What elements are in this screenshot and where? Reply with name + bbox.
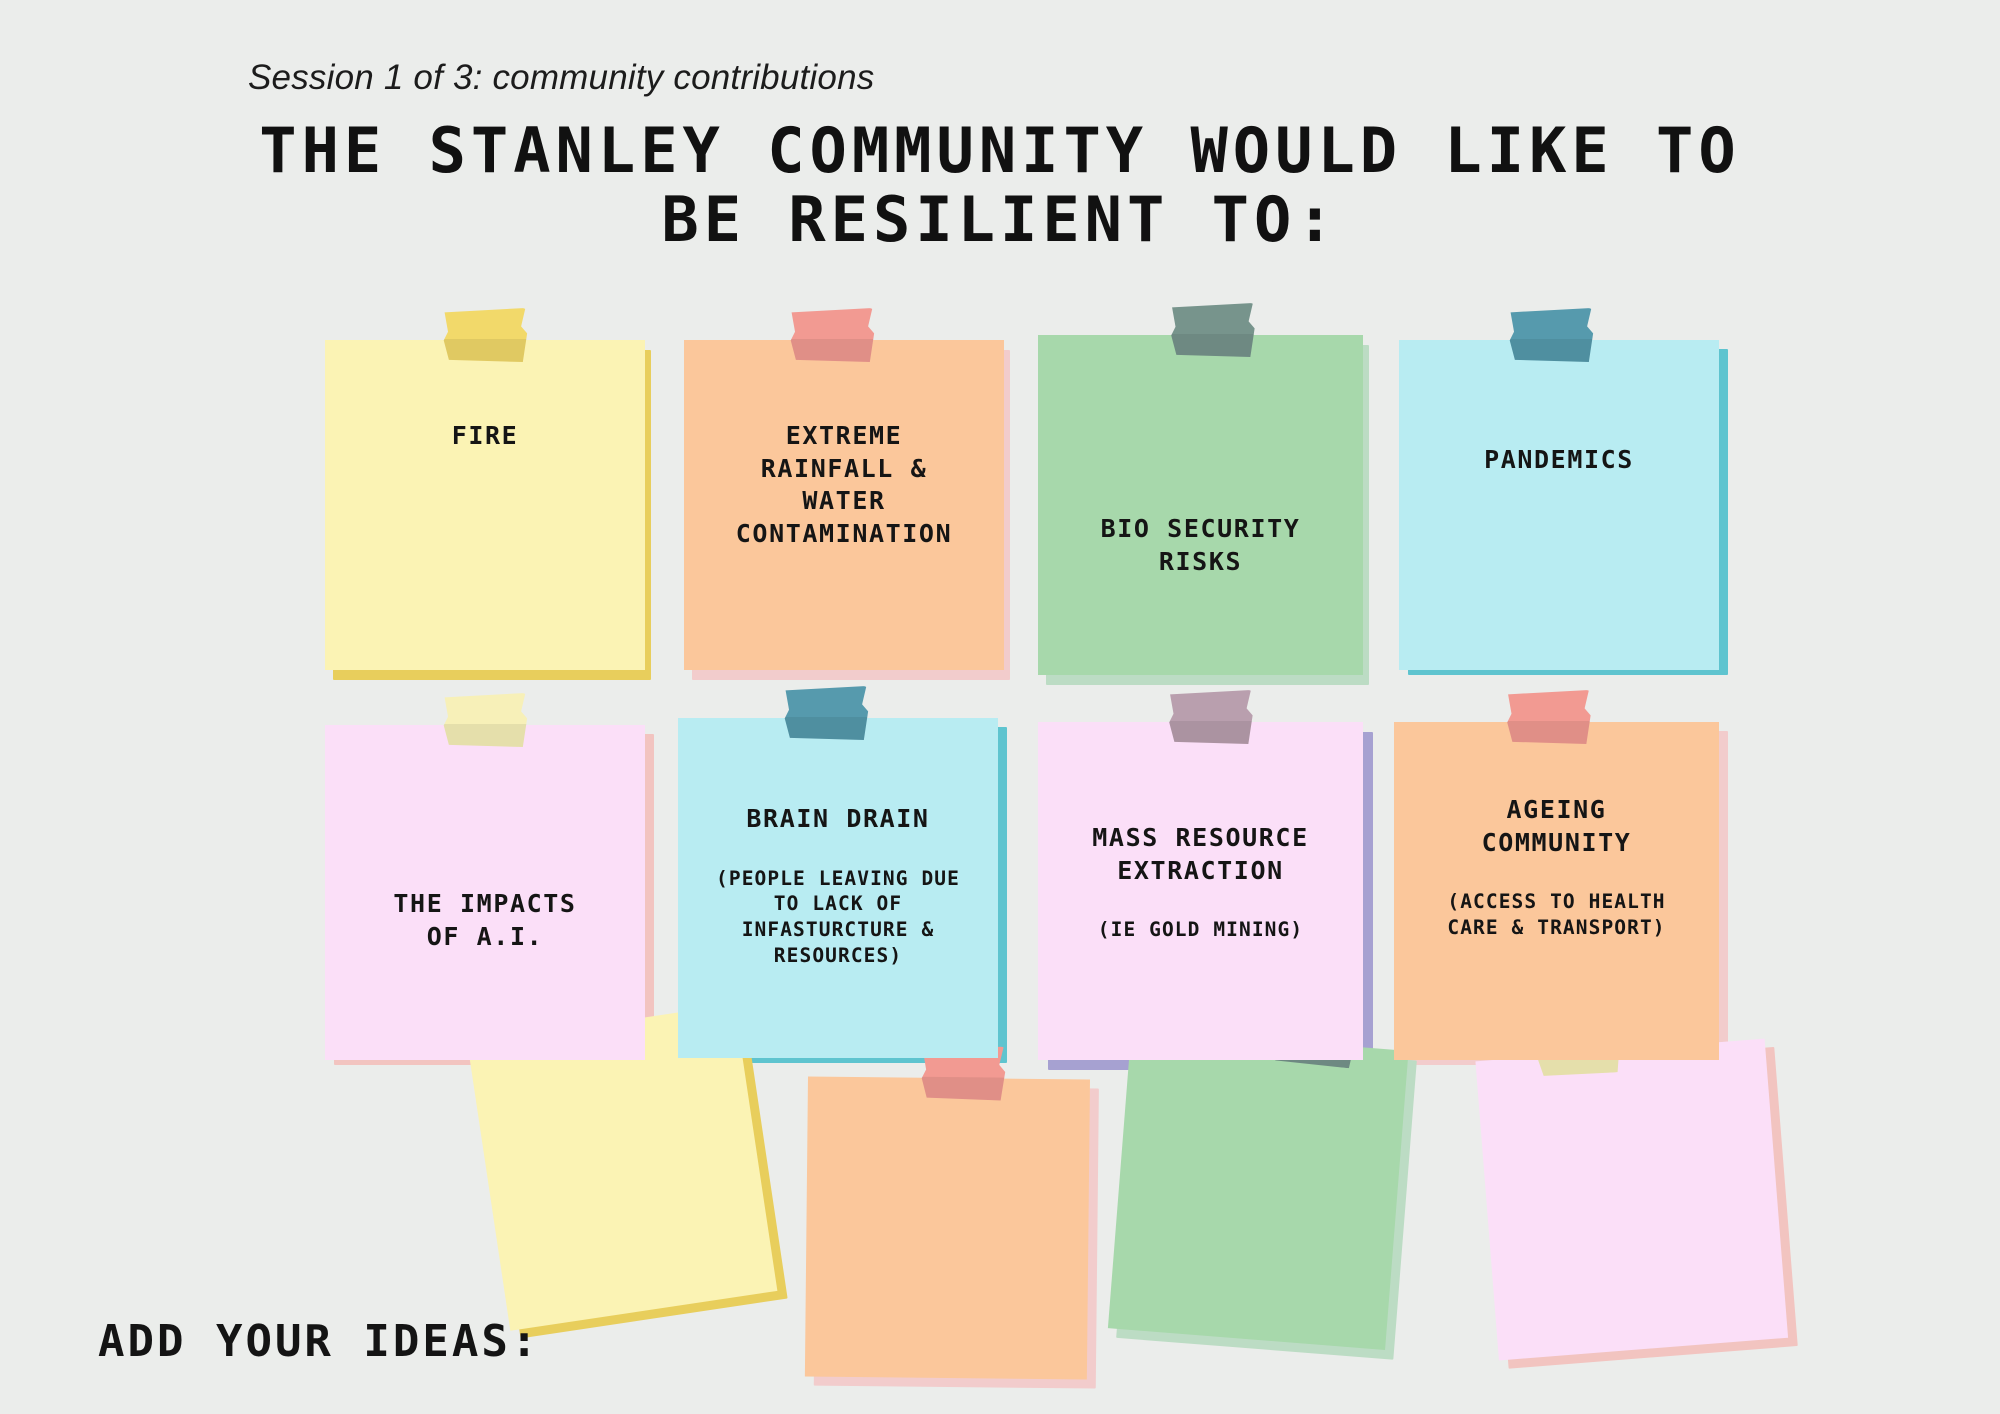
text-line: CONTAMINATION — [736, 518, 952, 551]
text-line: BRAIN DRAIN — [746, 803, 929, 836]
text-line: AGEING — [1482, 794, 1632, 827]
text-line: BIO SECURITY — [1101, 513, 1301, 546]
add-your-ideas-label: ADD YOUR IDEAS: — [98, 1316, 540, 1367]
tape-fold-shadow — [442, 339, 528, 362]
page-title-line-2: BE RESILIENT TO: — [60, 185, 1940, 254]
text-line: CARE & TRANSPORT) — [1447, 915, 1665, 941]
text-line: MASS RESOURCE — [1092, 822, 1308, 855]
tape-strip — [442, 308, 528, 362]
text-line: EXTRACTION — [1092, 855, 1308, 888]
tape-fold-shadow — [1506, 721, 1592, 744]
note-title: THE IMPACTSOF A.I. — [393, 888, 576, 953]
sticky-note-ageing-community[interactable]: AGEINGCOMMUNITY(ACCESS TO HEALTHCARE & T… — [1394, 722, 1719, 1060]
text-line: PANDEMICS — [1484, 444, 1634, 477]
blank-sticky-note-orange[interactable] — [805, 1077, 1090, 1380]
note-paper: FIRE — [325, 340, 645, 670]
note-subtitle: (PEOPLE LEAVING DUETO LACK OFINFASTURCTU… — [716, 866, 960, 970]
tape-strip — [442, 693, 528, 747]
blank-sticky-note-green[interactable] — [1108, 1029, 1409, 1350]
tape-fold-shadow — [783, 717, 869, 740]
text-line: TO LACK OF — [716, 891, 960, 917]
whiteboard-canvas: Session 1 of 3: community contributions … — [0, 0, 2000, 1414]
note-title: MASS RESOURCEEXTRACTION — [1092, 822, 1308, 887]
note-paper: EXTREMERAINFALL &WATERCONTAMINATION — [684, 340, 1004, 670]
text-line: WATER — [736, 485, 952, 518]
note-title: AGEINGCOMMUNITY — [1482, 794, 1632, 859]
note-paper: BIO SECURITYRISKS — [1038, 335, 1363, 675]
tape-strip — [783, 686, 869, 740]
sticky-note-impacts-of-ai[interactable]: THE IMPACTSOF A.I. — [325, 725, 645, 1060]
note-paper — [1475, 1039, 1788, 1361]
text-line: FIRE — [452, 420, 519, 453]
sticky-note-bio-security[interactable]: BIO SECURITYRISKS — [1038, 335, 1363, 675]
text-line: RISKS — [1101, 546, 1301, 579]
tape-fold-shadow — [1168, 721, 1254, 744]
sticky-note-fire[interactable]: FIRE — [325, 340, 645, 670]
session-subtitle: Session 1 of 3: community contributions — [248, 58, 874, 98]
text-line: EXTREME — [736, 420, 952, 453]
tape-strip — [789, 308, 875, 362]
blank-sticky-note-pink[interactable] — [1475, 1039, 1788, 1361]
page-title-line-1: THE STANLEY COMMUNITY WOULD LIKE TO — [259, 114, 1740, 187]
note-title: FIRE — [452, 420, 519, 453]
note-paper: THE IMPACTSOF A.I. — [325, 725, 645, 1060]
sticky-note-extreme-rainfall[interactable]: EXTREMERAINFALL &WATERCONTAMINATION — [684, 340, 1004, 670]
note-paper: AGEINGCOMMUNITY(ACCESS TO HEALTHCARE & T… — [1394, 722, 1719, 1060]
tape-fold-shadow — [442, 724, 528, 747]
text-line: (PEOPLE LEAVING DUE — [716, 866, 960, 892]
note-title: PANDEMICS — [1484, 444, 1634, 477]
note-paper — [1108, 1029, 1409, 1350]
note-paper: PANDEMICS — [1399, 340, 1719, 670]
text-line: (ACCESS TO HEALTH — [1447, 889, 1665, 915]
text-line: RESOURCES) — [716, 943, 960, 969]
text-line: (IE GOLD MINING) — [1098, 917, 1303, 943]
tape-strip — [1168, 690, 1254, 744]
note-subtitle: (ACCESS TO HEALTHCARE & TRANSPORT) — [1447, 889, 1665, 941]
note-paper — [805, 1077, 1090, 1380]
sticky-note-pandemics[interactable]: PANDEMICS — [1399, 340, 1719, 670]
note-subtitle: (IE GOLD MINING) — [1098, 917, 1303, 943]
sticky-note-mass-resource-extraction[interactable]: MASS RESOURCEEXTRACTION(IE GOLD MINING) — [1038, 722, 1363, 1060]
text-line: THE IMPACTS — [393, 888, 576, 921]
note-title: BIO SECURITYRISKS — [1101, 513, 1301, 578]
note-paper: MASS RESOURCEEXTRACTION(IE GOLD MINING) — [1038, 722, 1363, 1060]
sticky-note-brain-drain[interactable]: BRAIN DRAIN(PEOPLE LEAVING DUETO LACK OF… — [678, 718, 998, 1058]
note-paper: BRAIN DRAIN(PEOPLE LEAVING DUETO LACK OF… — [678, 718, 998, 1058]
tape-strip — [1170, 303, 1256, 357]
tape-fold-shadow — [1508, 339, 1594, 362]
tape-fold-shadow — [920, 1077, 1006, 1101]
tape-fold-shadow — [1170, 334, 1256, 357]
tape-fold-shadow — [789, 339, 875, 362]
tape-strip — [1506, 690, 1592, 744]
text-line: RAINFALL & — [736, 453, 952, 486]
tape-strip — [1508, 308, 1594, 362]
note-title: EXTREMERAINFALL &WATERCONTAMINATION — [736, 420, 952, 550]
text-line: INFASTURCTURE & — [716, 917, 960, 943]
note-title: BRAIN DRAIN — [746, 803, 929, 836]
page-title: THE STANLEY COMMUNITY WOULD LIKE TO BE R… — [0, 116, 2000, 255]
text-line: COMMUNITY — [1482, 827, 1632, 860]
text-line: OF A.I. — [393, 921, 576, 954]
